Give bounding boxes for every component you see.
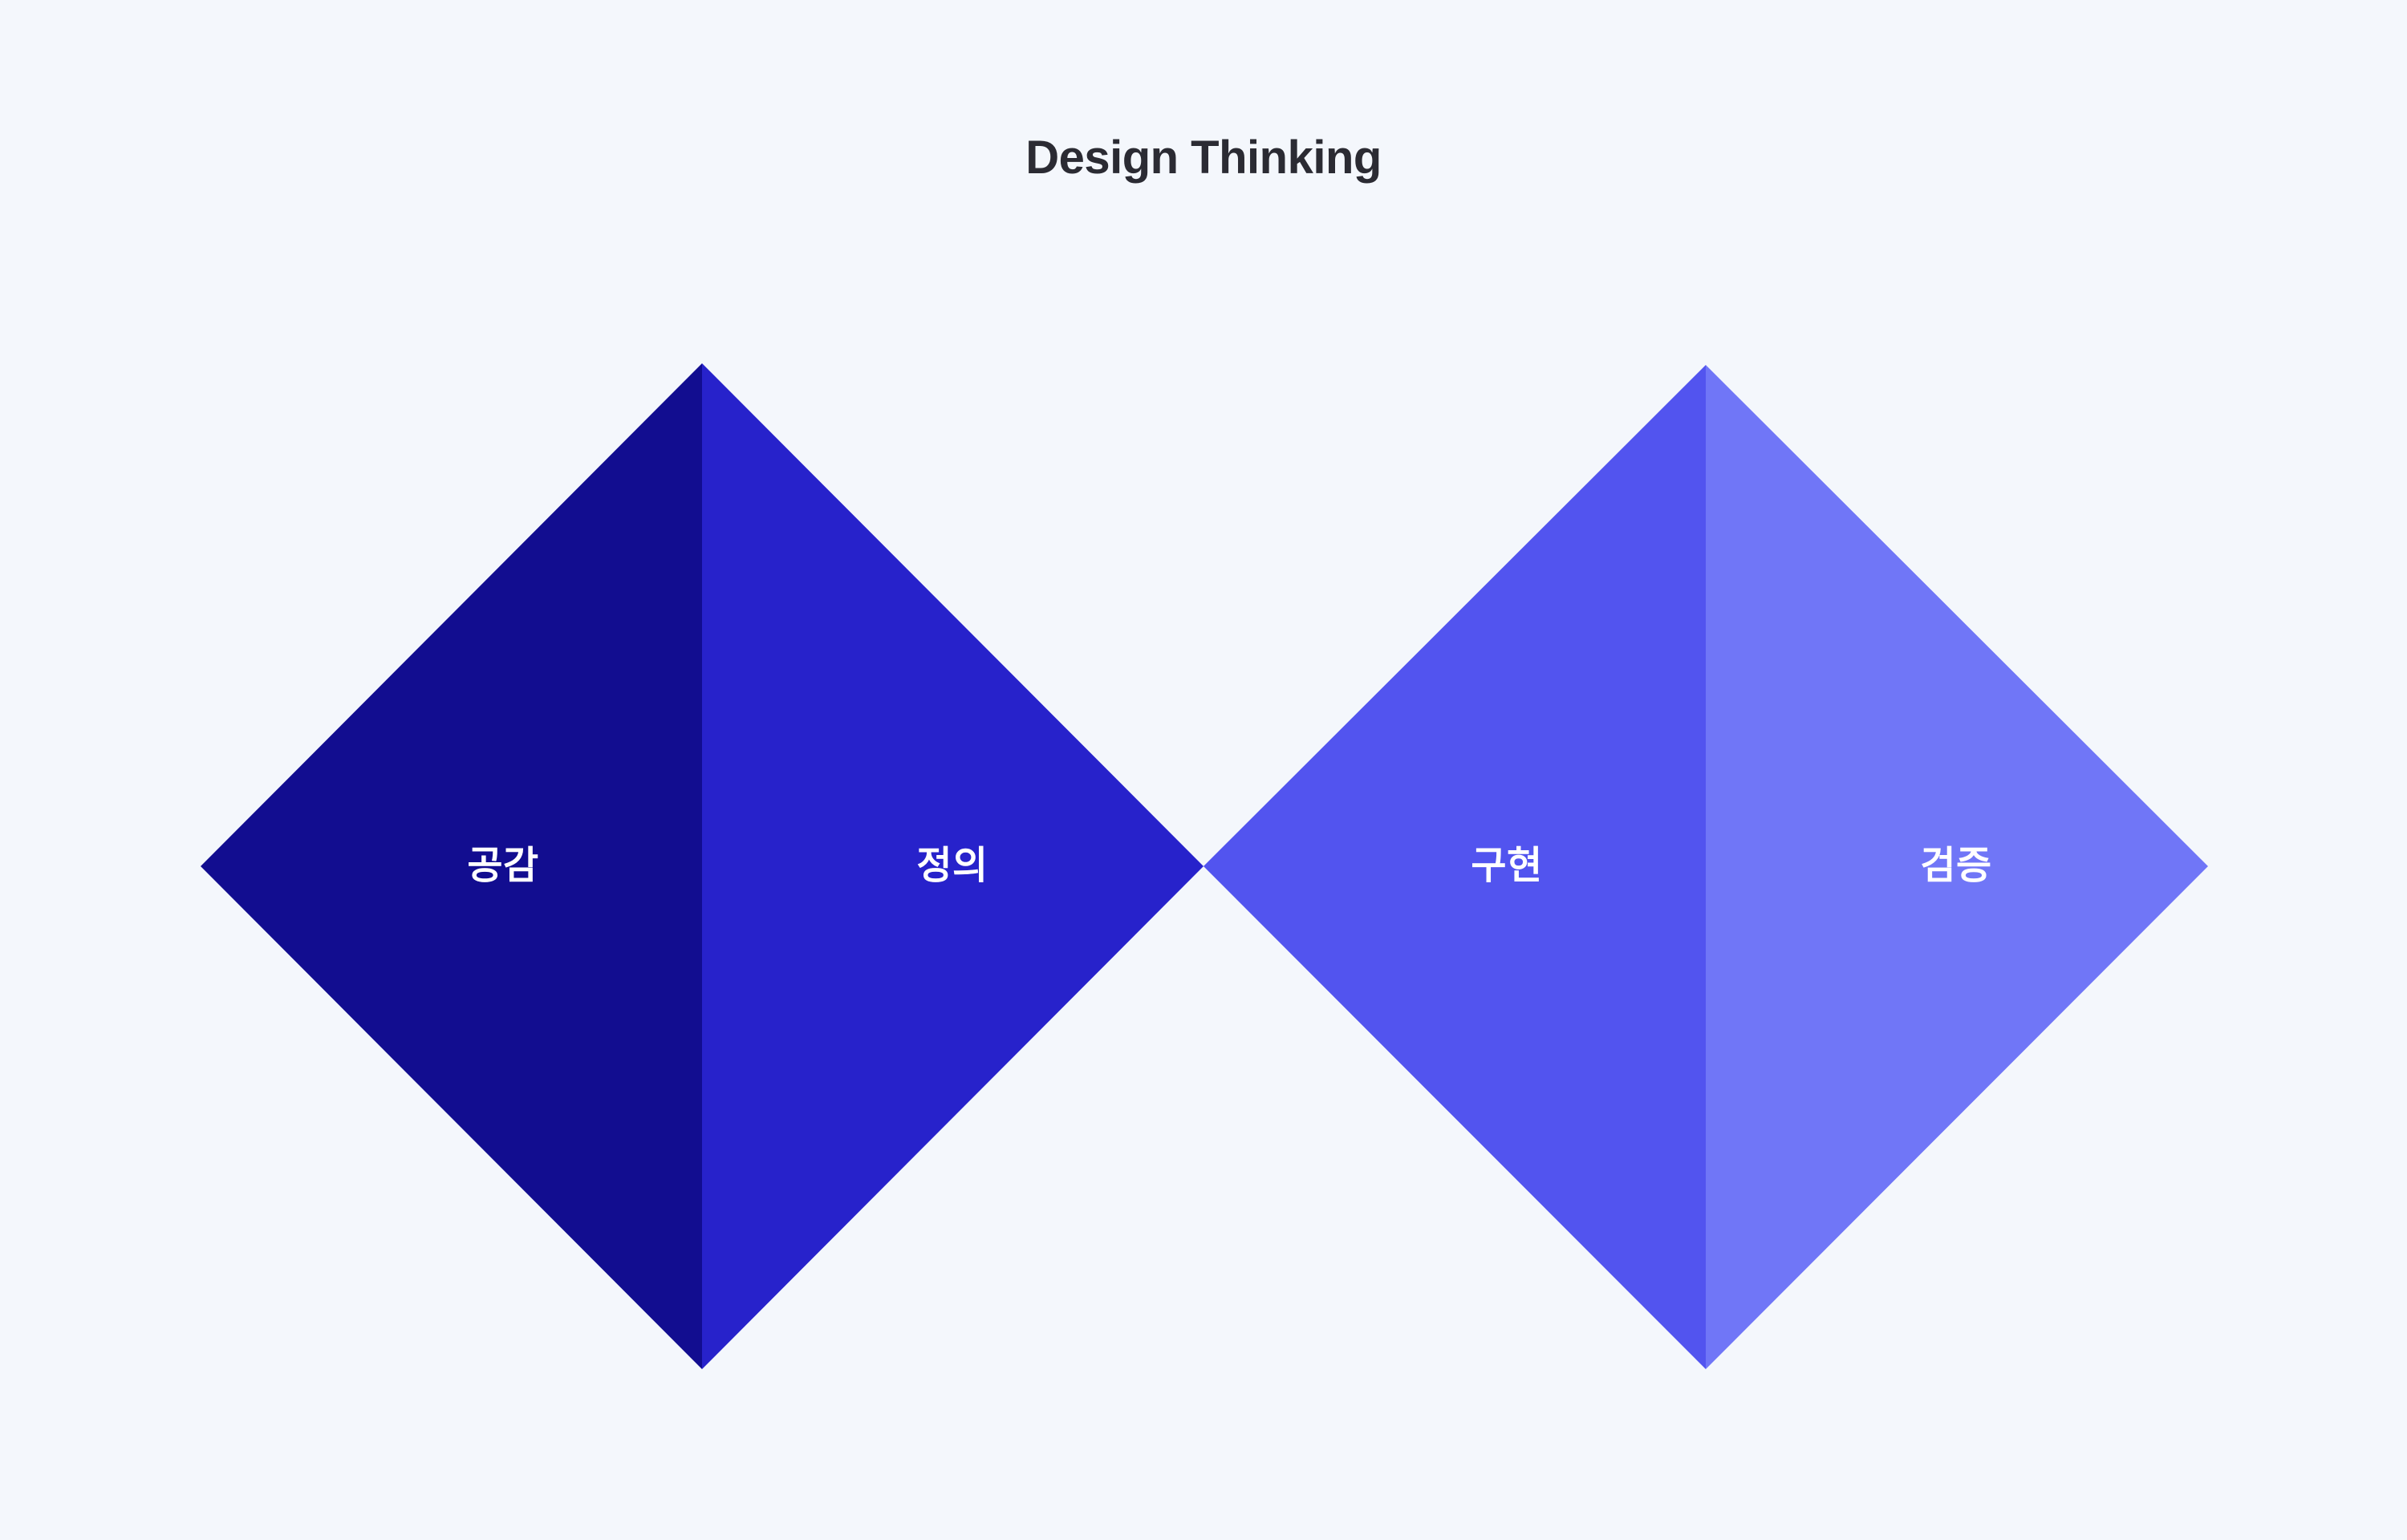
diagram-canvas: Design Thinking 공감 정의 구현 검증: [0, 0, 2407, 1540]
double-diamond-shape-group: [0, 0, 2407, 1540]
stage-shape-develop[interactable]: [1203, 365, 1706, 1369]
stage-shape-empathize[interactable]: [201, 363, 702, 1369]
stage-shape-define[interactable]: [702, 363, 1203, 1369]
stage-shape-verify[interactable]: [1706, 365, 2208, 1369]
